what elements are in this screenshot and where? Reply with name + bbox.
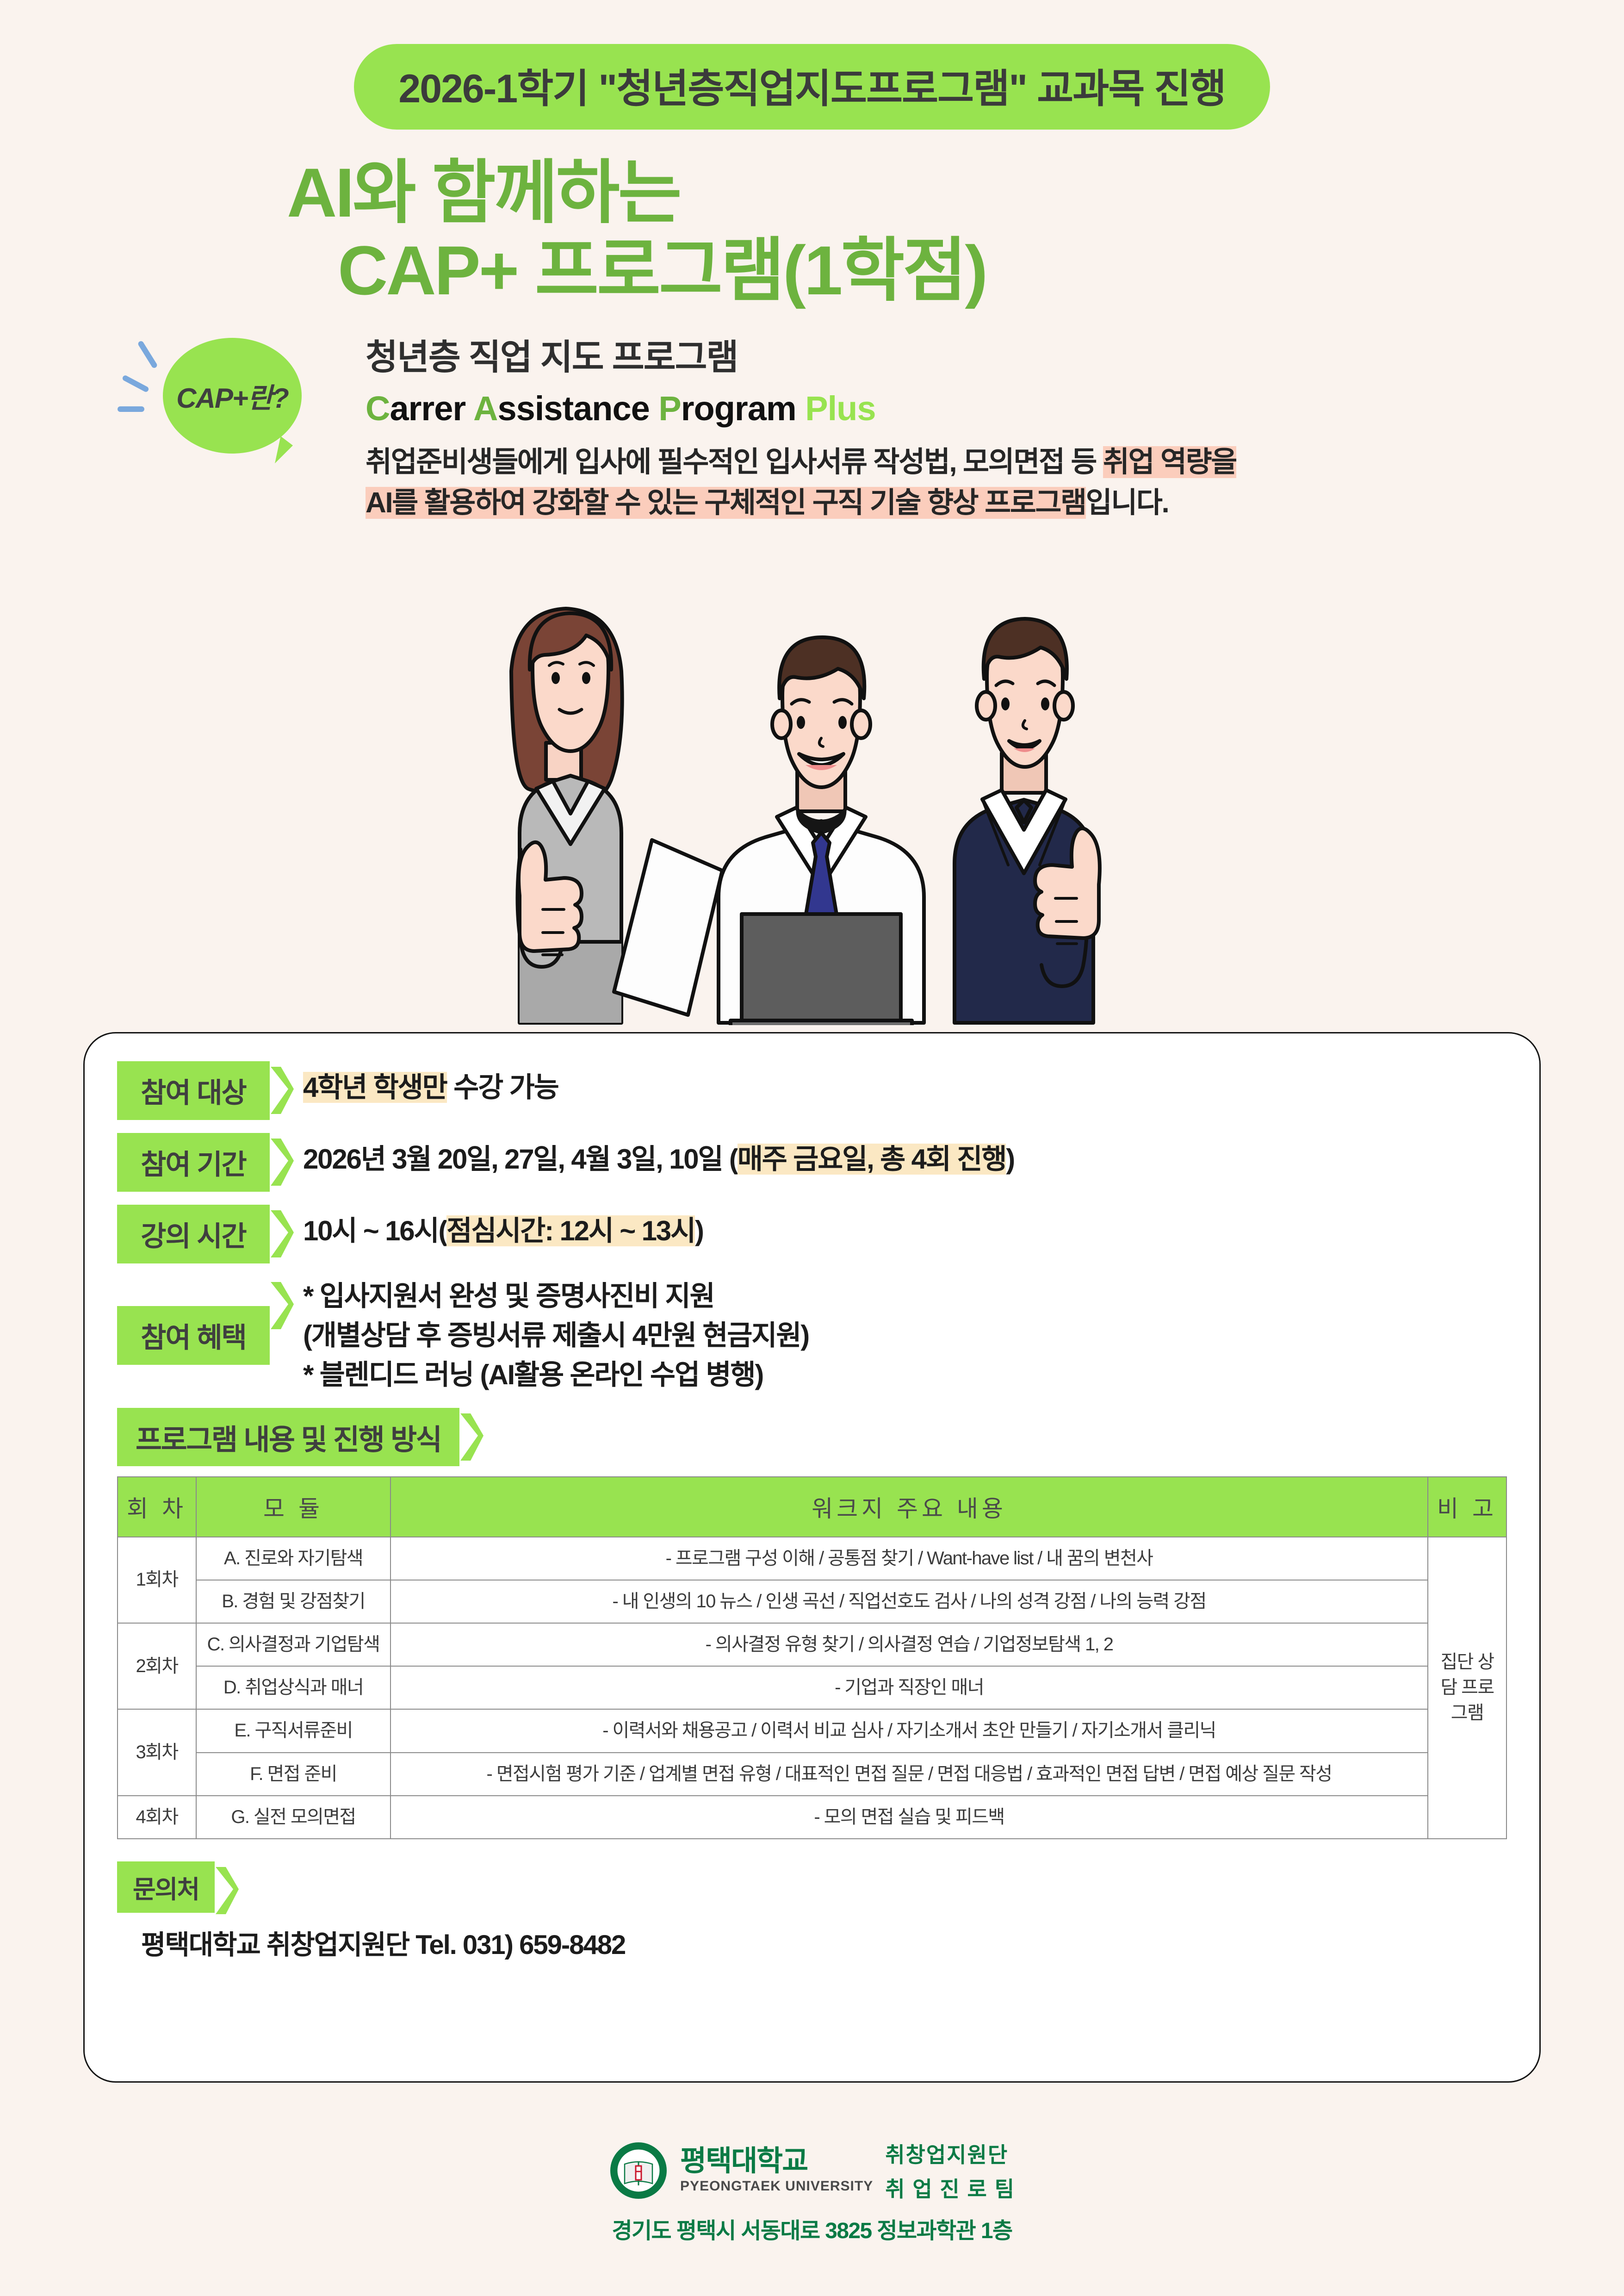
speech-bubble-tail-icon — [275, 436, 294, 467]
cell-content-d: - 기업과 직장인 매너 — [391, 1666, 1428, 1709]
table-row: B. 경험 및 강점찾기 - 내 인생의 10 뉴스 / 인생 곡선 / 직업선… — [118, 1580, 1506, 1623]
info-value-benefit: * 입사지원서 완성 및 증명사진비 지원 (개별상담 후 증빙서류 제출시 4… — [295, 1276, 809, 1395]
benefit-line-2: (개별상담 후 증빙서류 제출시 4만원 현금지원) — [303, 1316, 809, 1355]
chevron-right-icon-4 — [270, 1276, 295, 1395]
cell-module-c: C. 의사결정과 기업탐색 — [196, 1623, 391, 1666]
cell-session-2: 2회차 — [118, 1623, 196, 1709]
sparkle-icon-1 — [132, 352, 163, 357]
contact-label: 문의처 — [117, 1861, 215, 1913]
time-pre: 10시 ~ 16시( — [303, 1215, 446, 1246]
header-note-text: 비 고 — [1437, 1496, 1497, 1522]
details-card: 참여 대상 4학년 학생만 수강 가능 참여 기간 2026년 3월 20일, … — [83, 1032, 1541, 2083]
header-session: 회 차 — [118, 1477, 196, 1537]
footer-university-kr: 평택대학교 — [680, 2147, 873, 2176]
benefit-line-1: * 입사지원서 완성 및 증명사진비 지원 — [303, 1276, 809, 1316]
info-label-target: 참여 대상 — [117, 1061, 270, 1120]
info-value-target: 4학년 학생만 수강 가능 — [295, 1061, 558, 1107]
sparkle-icon-3 — [118, 406, 144, 412]
info-label-time: 강의 시간 — [117, 1205, 270, 1263]
info-row-period: 참여 기간 2026년 3월 20일, 27일, 4월 3일, 10일 (매주 … — [117, 1133, 1507, 1192]
cell-content-g: - 모의 면접 실습 및 피드백 — [391, 1796, 1428, 1839]
cell-module-e: E. 구직서류준비 — [196, 1709, 391, 1752]
university-seal-icon — [609, 2141, 668, 2200]
header-badge-container: 2026-1학기 "청년층직업지도프로그램" 교과목 진행 — [0, 0, 1624, 130]
period-highlight: 매주 금요일, 총 4회 진행 — [738, 1144, 1006, 1175]
program-english-name: Carrer Assistance Program Plus — [366, 389, 1578, 428]
table-header-row: 회 차 모 듈 워크지 주요 내용 비 고 — [118, 1477, 1506, 1537]
word-rogram: rogram — [681, 389, 806, 428]
sparkle-icon-2 — [121, 381, 150, 386]
cell-module-f: F. 면접 준비 — [196, 1753, 391, 1796]
initial-p: P — [658, 389, 681, 428]
footer-university-block: 평택대학교 PYEONGTAEK UNIVERSITY — [680, 2147, 873, 2194]
title-line-1: AI와 함께하는 — [287, 154, 1624, 231]
info-label-benefit: 참여 혜택 — [117, 1306, 270, 1365]
desc-highlight-1: 취업 역량을 — [1103, 446, 1236, 478]
time-post: ) — [695, 1215, 703, 1246]
chevron-right-icon-6 — [215, 1861, 240, 1913]
chevron-right-icon-5 — [459, 1408, 484, 1466]
info-value-period: 2026년 3월 20일, 27일, 4월 3일, 10일 (매주 금요일, 총… — [295, 1133, 1014, 1179]
cell-content-f: - 면접시험 평가 기준 / 업계별 면접 유형 / 대표적인 면접 질문 / … — [391, 1753, 1428, 1796]
time-highlight: 점심시간: 12시 ~ 13시 — [446, 1215, 695, 1246]
cell-module-a: A. 진로와 자기탐색 — [196, 1537, 391, 1580]
footer-team-line-1: 취창업지원단 — [885, 2138, 1015, 2169]
footer-university-en: PYEONGTAEK UNIVERSITY — [680, 2178, 873, 2194]
table-row: F. 면접 준비 - 면접시험 평가 기준 / 업계별 면접 유형 / 대표적인… — [118, 1753, 1506, 1796]
word-ssistance: ssistance — [497, 389, 658, 428]
chevron-right-icon-2 — [270, 1133, 295, 1192]
title-line-2: CAP+ 프로그램(1학점) — [287, 231, 1624, 309]
desc-part-1: 취업준비생들에게 입사에 필수적인 입사서류 작성법, 모의면접 등 — [366, 446, 1103, 478]
program-korean-name: 청년층 직업 지도 프로그램 — [366, 329, 1578, 380]
chevron-right-icon-1 — [270, 1061, 295, 1120]
info-row-target: 참여 대상 4학년 학생만 수강 가능 — [117, 1061, 1507, 1120]
page-title: AI와 함께하는 CAP+ 프로그램(1학점) — [0, 154, 1624, 309]
initial-a: A — [473, 389, 497, 428]
intro-text-block: 청년층 직업 지도 프로그램 Carrer Assistance Program… — [366, 329, 1578, 523]
desc-highlight-2: AI를 활용하여 강화할 수 있는 구체적인 구직 기술 향상 프로그램 — [366, 487, 1086, 519]
info-label-period: 참여 기간 — [117, 1133, 270, 1192]
footer-team-block: 취창업지원단 취 업 진 로 팀 — [885, 2138, 1015, 2203]
table-row: D. 취업상식과 매너 - 기업과 직장인 매너 — [118, 1666, 1506, 1709]
word-plus: Plus — [805, 389, 875, 428]
table-row: 3회차 E. 구직서류준비 - 이력서와 채용공고 / 이력서 비교 심사 / … — [118, 1709, 1506, 1752]
cell-content-b: - 내 인생의 10 뉴스 / 인생 곡선 / 직업선호도 검사 / 나의 성격… — [391, 1580, 1428, 1623]
info-row-benefit: 참여 혜택 * 입사지원서 완성 및 증명사진비 지원 (개별상담 후 증빙서류… — [117, 1276, 1507, 1395]
table-row: 1회차 A. 진로와 자기탐색 - 프로그램 구성 이해 / 공통점 찾기 / … — [118, 1537, 1506, 1580]
cell-module-d: D. 취업상식과 매너 — [196, 1666, 391, 1709]
cell-session-3: 3회차 — [118, 1709, 196, 1795]
program-description: 취업준비생들에게 입사에 필수적인 입사서류 작성법, 모의면접 등 취업 역량… — [366, 442, 1578, 523]
info-row-time: 강의 시간 10시 ~ 16시(점심시간: 12시 ~ 13시) — [117, 1205, 1507, 1263]
desc-part-3: 입니다. — [1086, 487, 1169, 519]
period-post: ) — [1006, 1144, 1014, 1175]
word-arrer: arrer — [390, 389, 473, 428]
program-section-label: 프로그램 내용 및 진행 방식 — [117, 1408, 459, 1466]
header-module: 모 듈 — [196, 1477, 391, 1537]
business-people-illustration — [465, 590, 1187, 1025]
table-row: 4회차 G. 실전 모의면접 - 모의 면접 실습 및 피드백 — [118, 1796, 1506, 1839]
table-row: 2회차 C. 의사결정과 기업탐색 - 의사결정 유형 찾기 / 의사결정 연습… — [118, 1623, 1506, 1666]
program-table: 회 차 모 듈 워크지 주요 내용 비 고 1회차 A. 진로와 자기탐색 - … — [117, 1476, 1507, 1839]
cell-content-e: - 이력서와 채용공고 / 이력서 비교 심사 / 자기소개서 초안 만들기 /… — [391, 1709, 1428, 1752]
footer-logo-row: 평택대학교 PYEONGTAEK UNIVERSITY 취창업지원단 취 업 진… — [609, 2138, 1015, 2203]
footer: 평택대학교 PYEONGTAEK UNIVERSITY 취창업지원단 취 업 진… — [0, 2138, 1624, 2245]
period-pre: 2026년 3월 20일, 27일, 4월 3일, 10일 ( — [303, 1144, 738, 1175]
cell-session-4: 4회차 — [118, 1796, 196, 1839]
cell-note: 집단 상담 프로 그램 — [1428, 1537, 1506, 1839]
contact-header-row: 문의처 — [117, 1861, 1507, 1913]
initial-c: C — [366, 389, 390, 428]
cap-plus-bubble-label: CAP+란? — [176, 376, 288, 416]
benefit-line-3: * 블렌디드 러닝 (AI활용 온라인 수업 병행) — [303, 1355, 809, 1394]
info-value-time: 10시 ~ 16시(점심시간: 12시 ~ 13시) — [295, 1205, 703, 1251]
header-note: 비 고 — [1428, 1477, 1506, 1537]
header-badge: 2026-1학기 "청년층직업지도프로그램" 교과목 진행 — [354, 44, 1270, 130]
cell-session-1: 1회차 — [118, 1537, 196, 1623]
chevron-right-icon-3 — [270, 1205, 295, 1263]
contact-value: 평택대학교 취창업지원단 Tel. 031) 659-8482 — [117, 1923, 1507, 1962]
intro-section: CAP+란? 청년층 직업 지도 프로그램 Carrer Assistance … — [0, 329, 1624, 523]
footer-team-line-2: 취 업 진 로 팀 — [885, 2172, 1015, 2203]
target-highlight: 4학년 학생만 — [303, 1072, 447, 1103]
cell-module-g: G. 실전 모의면접 — [196, 1796, 391, 1839]
header-content: 워크지 주요 내용 — [391, 1477, 1428, 1537]
cell-content-a: - 프로그램 구성 이해 / 공통점 찾기 / Want-have list /… — [391, 1537, 1428, 1580]
footer-address: 경기도 평택시 서동대로 3825 정보과학관 1층 — [612, 2212, 1012, 2245]
program-section-header: 프로그램 내용 및 진행 방식 — [117, 1408, 1507, 1466]
cell-content-c: - 의사결정 유형 찾기 / 의사결정 연습 / 기업정보탐색 1, 2 — [391, 1623, 1428, 1666]
cell-module-b: B. 경험 및 강점찾기 — [196, 1580, 391, 1623]
target-rest: 수강 가능 — [447, 1072, 558, 1103]
